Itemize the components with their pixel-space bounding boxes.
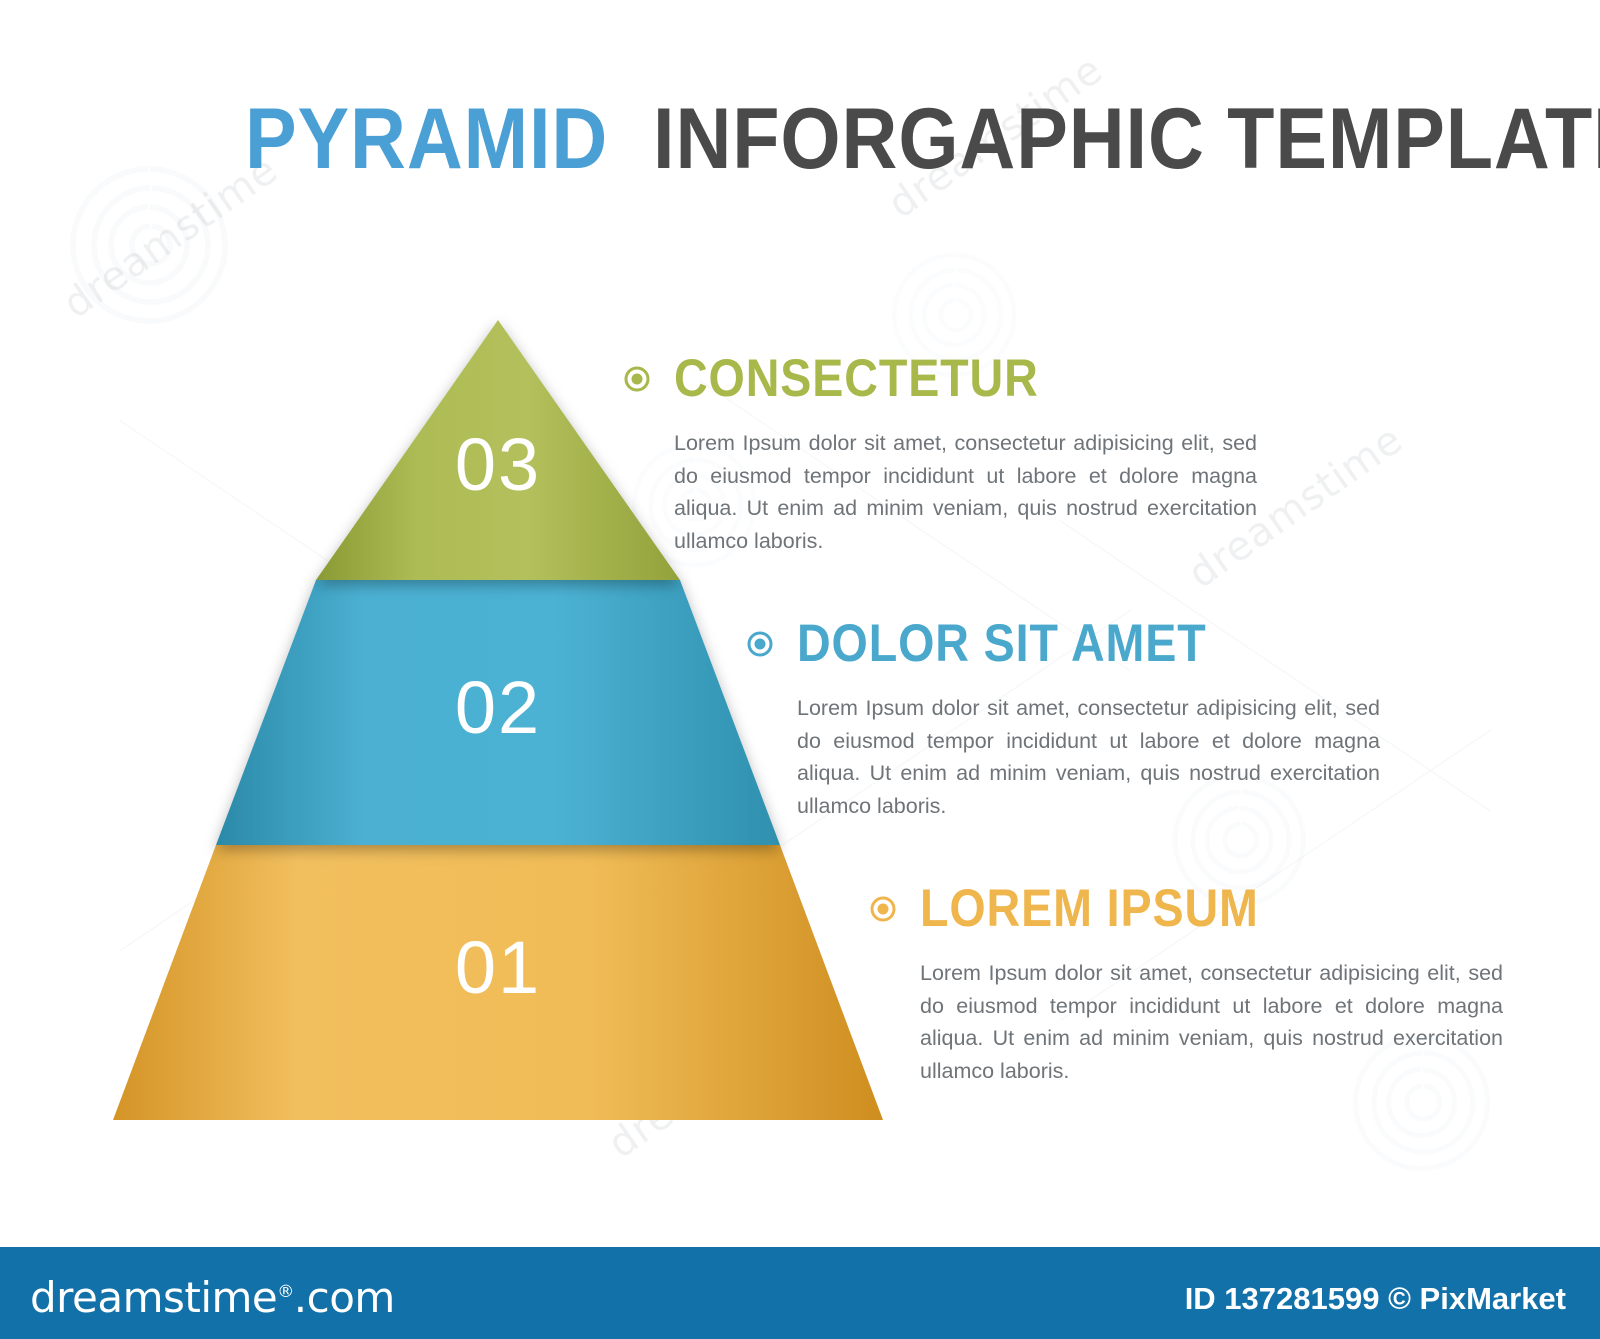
ring-dot-icon (868, 894, 898, 924)
section-title: CONSECTETUR (674, 352, 1039, 405)
image-id-credit: ID 137281599 © PixMarket (1185, 1281, 1566, 1317)
title-accent-word: PYRAMID (245, 91, 608, 187)
tier-number-01: 01 (455, 926, 541, 1009)
ring-dot-icon (745, 629, 775, 659)
ring-dot-icon (622, 364, 652, 394)
tier-number-02: 02 (455, 666, 541, 749)
section-heading-row: CONSECTETUR (622, 352, 1257, 405)
section-body-text: Lorem Ipsum dolor sit amet, consectetur … (920, 957, 1503, 1088)
page-title: PYRAMID INFORGAPHIC TEMPLATE (245, 96, 1600, 182)
logo-registered-mark: ® (277, 1282, 294, 1302)
logo-text: dreamstime (30, 1273, 277, 1322)
section-heading-row: DOLOR SIT AMET (745, 617, 1380, 670)
section-body-text: Lorem Ipsum dolor sit amet, consectetur … (674, 427, 1257, 558)
tier-number-03: 03 (455, 423, 541, 506)
info-section-lorem-ipsum: LOREM IPSUM Lorem Ipsum dolor sit amet, … (868, 882, 1503, 1088)
info-section-consectetur: CONSECTETUR Lorem Ipsum dolor sit amet, … (622, 352, 1257, 558)
section-heading-row: LOREM IPSUM (868, 882, 1503, 935)
dreamstime-logo: dreamstime®.com (30, 1273, 395, 1322)
infographic-canvas: dreamstime dreamstime dreamstime dreamst… (0, 0, 1600, 1339)
info-section-dolor-sit-amet: DOLOR SIT AMET Lorem Ipsum dolor sit ame… (745, 617, 1380, 823)
section-body-text: Lorem Ipsum dolor sit amet, consectetur … (797, 692, 1380, 823)
section-title: DOLOR SIT AMET (797, 617, 1207, 670)
logo-suffix: .com (294, 1273, 395, 1322)
title-main-words: INFORGAPHIC TEMPLATE (653, 91, 1600, 187)
stock-footer-bar: dreamstime®.com ID 137281599 © PixMarket (0, 1247, 1600, 1339)
section-title: LOREM IPSUM (920, 882, 1259, 935)
